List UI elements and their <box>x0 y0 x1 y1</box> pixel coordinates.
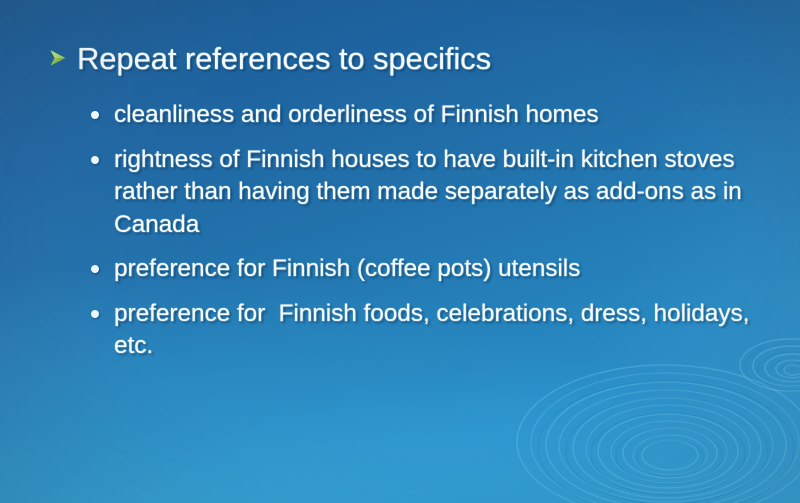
dot-bullet-icon <box>91 265 99 273</box>
bullet-list: cleanliness and orderliness of Finnish h… <box>88 99 788 363</box>
list-item: preference for Finnish (coffee pots) ute… <box>88 253 788 286</box>
list-item: rightness of Finnish houses to have buil… <box>88 144 788 242</box>
list-item-label: preference for Finnish (coffee pots) ute… <box>114 255 580 282</box>
slide-title-row: Repeat references to specifics <box>48 42 491 82</box>
list-item-label: cleanliness and orderliness of Finnish h… <box>114 101 599 128</box>
list-item-label: preference for Finnish foods, celebratio… <box>114 300 756 360</box>
list-item: cleanliness and orderliness of Finnish h… <box>88 99 788 132</box>
dot-bullet-icon <box>91 156 99 164</box>
list-item-label: rightness of Finnish houses to have buil… <box>114 146 748 238</box>
dot-bullet-icon <box>91 111 99 119</box>
slide-content: Repeat references to specifics cleanline… <box>0 0 800 503</box>
page-title: Repeat references to specifics <box>77 42 491 75</box>
presentation-slide: Repeat references to specifics cleanline… <box>0 0 800 503</box>
arrow-right-icon <box>48 48 68 82</box>
list-item: preference for Finnish foods, celebratio… <box>88 298 788 363</box>
dot-bullet-icon <box>91 310 99 318</box>
